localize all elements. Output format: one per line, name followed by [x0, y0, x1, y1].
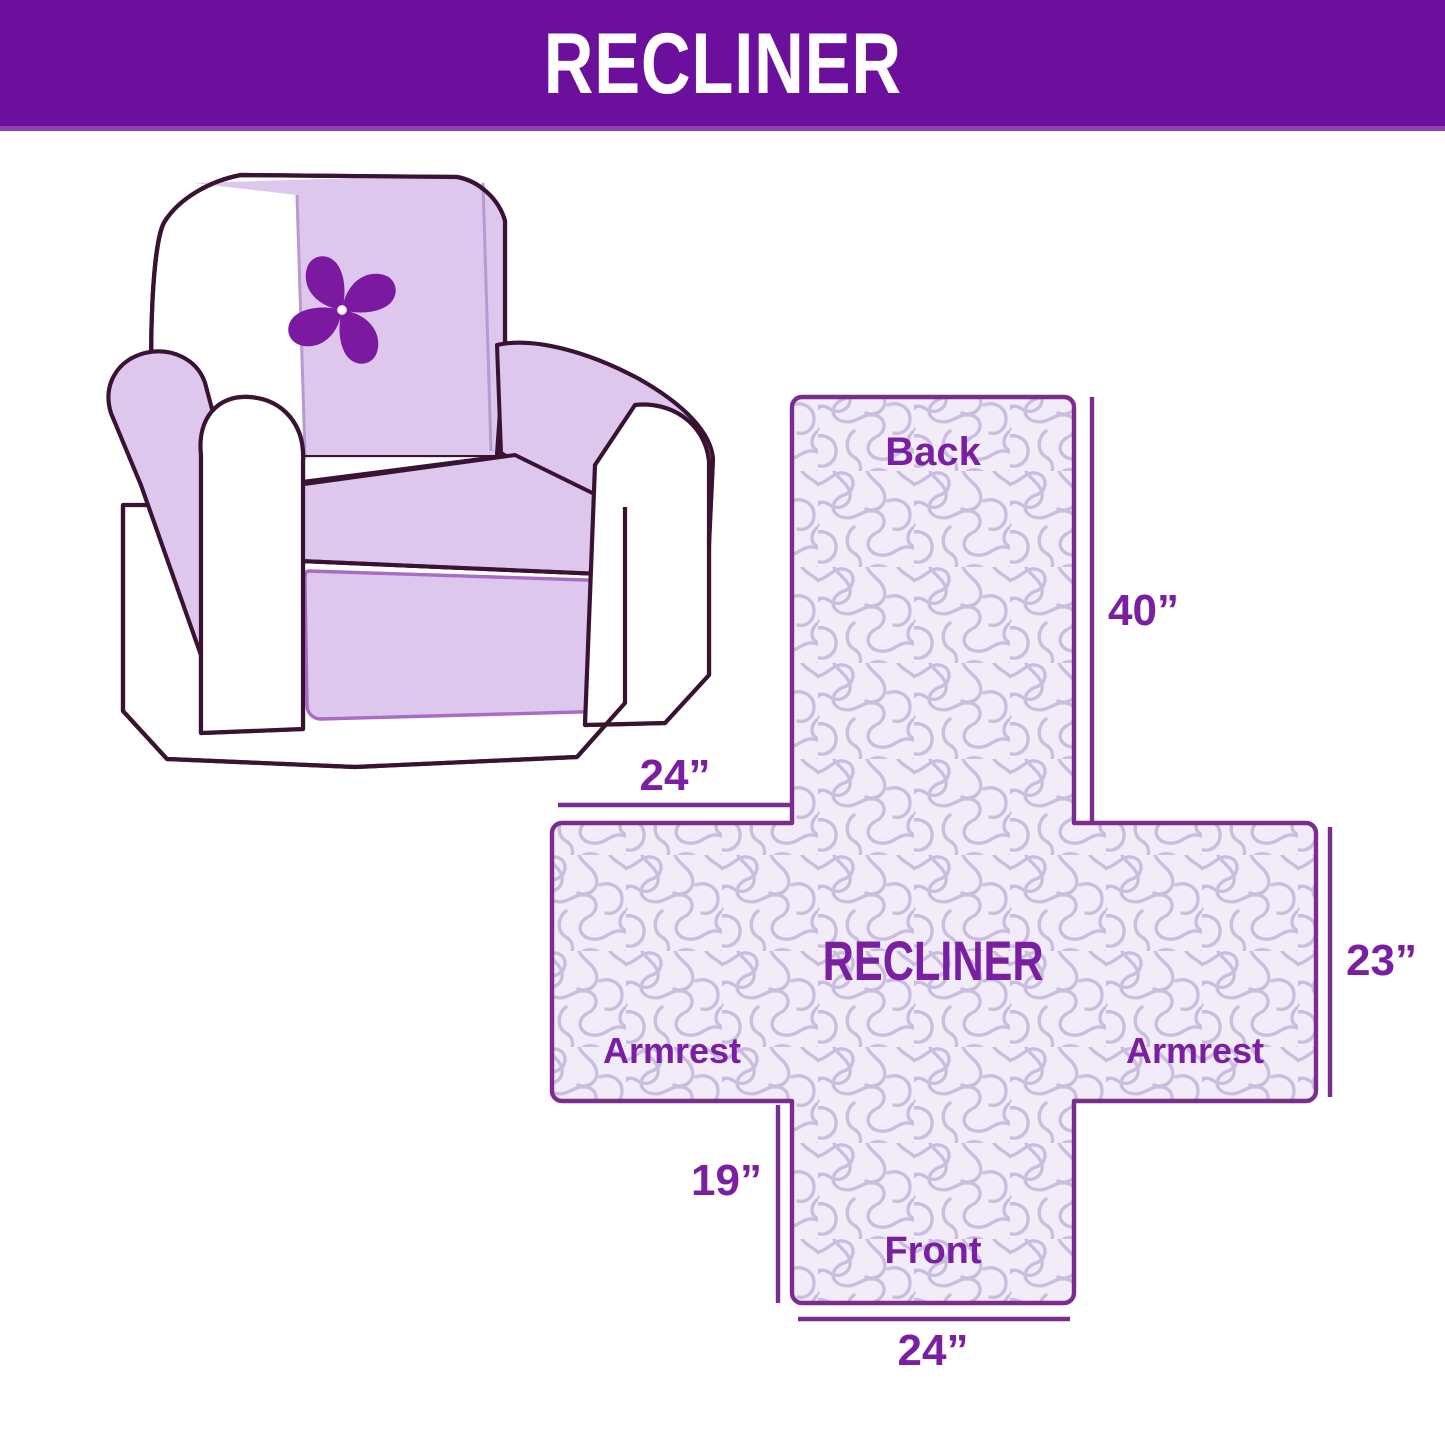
header-banner: RECLINER [0, 0, 1445, 131]
dimension-front-width: 24” [798, 1319, 1070, 1375]
panel-label-armrest-right: Armrest [1126, 1030, 1264, 1071]
center-label-recliner: RECLINER [823, 930, 1044, 993]
dimension-front-length: 19” [691, 1105, 778, 1303]
panel-label-back: Back [885, 430, 981, 474]
dimension-label-19in: 19” [691, 1156, 762, 1205]
cover-layout-diagram: Back RECLINER Armrest Armrest Front 40” … [530, 375, 1430, 1385]
dimension-label-24in-top: 24” [640, 751, 711, 800]
dimension-label-24in-bottom: 24” [898, 1326, 969, 1375]
dimension-back-width: 24” [558, 751, 792, 805]
dimension-back-length: 40” [1092, 397, 1179, 823]
header-accent-divider [0, 126, 1445, 131]
panel-label-armrest-left: Armrest [603, 1030, 741, 1071]
panel-label-front: Front [884, 1230, 981, 1272]
dimension-label-40in: 40” [1108, 586, 1179, 635]
dimension-label-23in: 23” [1346, 936, 1417, 985]
dimension-armrest-depth: 23” [1330, 827, 1417, 1097]
page-title: RECLINER [543, 21, 901, 107]
